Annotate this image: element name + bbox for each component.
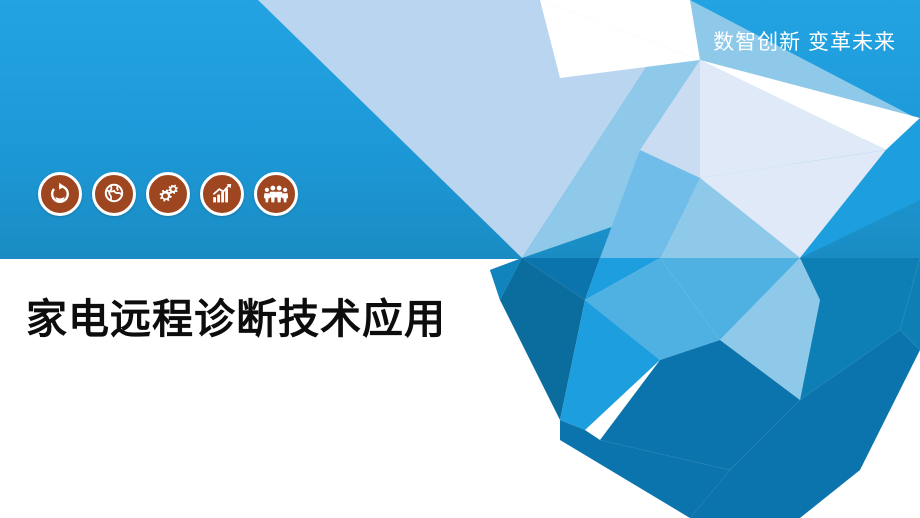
page-title: 家电远程诊断技术应用 [26,296,446,343]
refresh-cycle-icon[interactable] [38,172,82,216]
people-group-icon[interactable] [254,172,298,216]
globe-icon[interactable] [92,172,136,216]
slide-tagline: 数智创新 变革未来 [713,26,896,56]
bar-chart-growth-icon[interactable] [200,172,244,216]
gears-icon[interactable] [146,172,190,216]
low-poly-artwork [0,0,920,518]
icon-row [38,172,298,216]
title-slide: 数智创新 变革未来 [0,0,920,518]
